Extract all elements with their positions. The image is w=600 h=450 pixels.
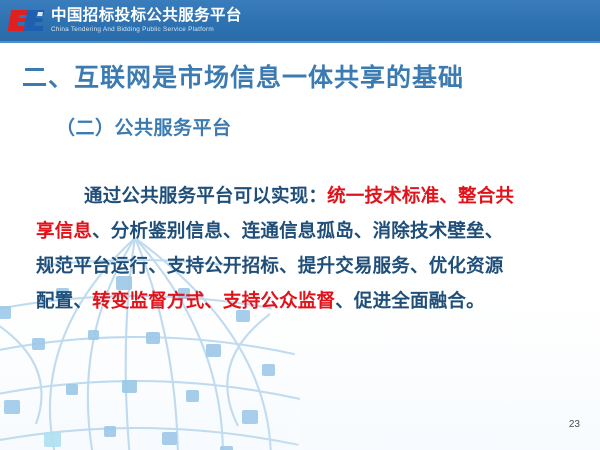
brand-name-cn: 中国招标投标公共服务平台 (51, 8, 242, 24)
body-text-segment: 配置、 (36, 290, 92, 311)
body-paragraph: 通过公共服务平台可以实现：统一技术标准、整合共享信息、分析鉴别信息、连通信息孤岛… (36, 178, 564, 318)
body-line: 配置、转变监督方式、支持公众监督、促进全面融合。 (36, 283, 564, 318)
body-text-segment: 规范平台运行、支持公开招标、提升交易服务、优化资源 (36, 255, 504, 276)
background-wash (0, 300, 600, 450)
body-text-segment: 享信息 (36, 220, 92, 241)
brand-text-block: 中国招标投标公共服务平台 China Tendering And Bidding… (51, 8, 242, 33)
body-text-segment: 转变监督方式、支持公众监督 (92, 290, 335, 311)
brand-name-en: China Tendering And Bidding Public Servi… (51, 27, 242, 33)
body-line: 享信息、分析鉴别信息、连通信息孤岛、消除技术壁垒、 (36, 213, 564, 248)
site-header-bar: 中国招标投标公共服务平台 China Tendering And Bidding… (0, 0, 600, 41)
page-number: 23 (569, 419, 580, 430)
page-title: 二、互联网是市场信息一体共享的基础 (22, 58, 464, 94)
body-line: 通过公共服务平台可以实现：统一技术标准、整合共 (36, 178, 564, 213)
body-text-segment: 统一技术标准、整合共 (327, 185, 514, 206)
page-subtitle: （二）公共服务平台 (56, 113, 232, 140)
body-text-segment: 、分析鉴别信息、连通信息孤岛、消除技术壁垒、 (92, 220, 503, 241)
body-line: 规范平台运行、支持公开招标、提升交易服务、优化资源 (36, 248, 564, 283)
cb-logo-icon (6, 6, 44, 36)
body-text-segment: 、促进全面融合。 (335, 290, 485, 311)
body-text-segment: 通过公共服务平台可以实现： (84, 185, 327, 206)
slide-canvas: 中国招标投标公共服务平台 China Tendering And Bidding… (0, 0, 600, 450)
header-underline (0, 41, 600, 43)
